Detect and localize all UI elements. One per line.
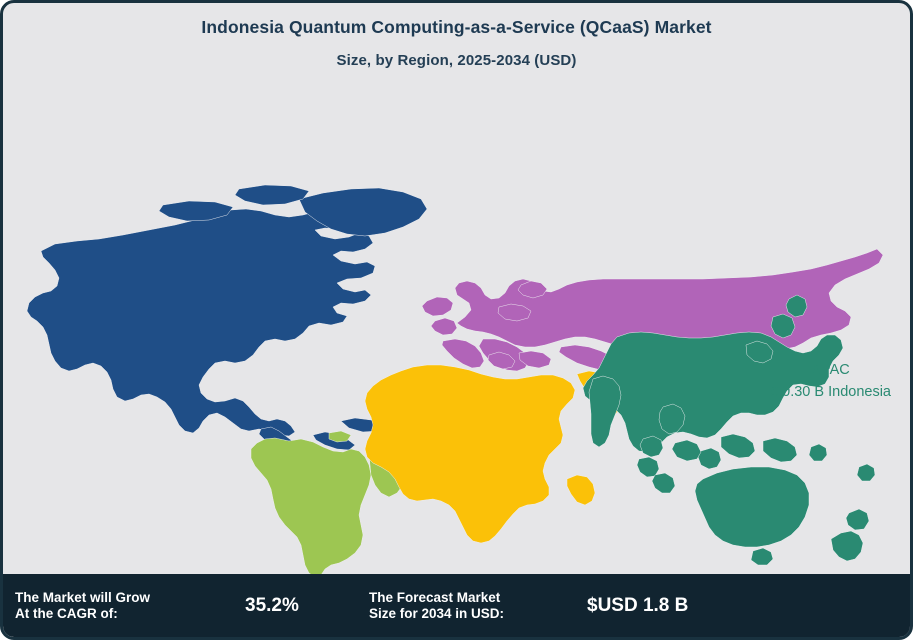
metric-cagr: The Market will Grow At the CAGR of: 35.… bbox=[15, 574, 299, 637]
metric-forecast-value: $USD 1.8 B bbox=[587, 595, 688, 617]
metric-forecast-label: The Forecast Market Size for 2034 in USD… bbox=[369, 590, 539, 621]
metric-cagr-value: 35.2% bbox=[245, 595, 299, 617]
metric-cagr-label: The Market will Grow At the CAGR of: bbox=[15, 590, 215, 621]
region-apac[interactable] bbox=[583, 295, 875, 565]
page-subtitle: Size, by Region, 2025-2034 (USD) bbox=[3, 51, 910, 71]
metrics-footer: The Market will Grow At the CAGR of: 35.… bbox=[3, 574, 913, 637]
chart-header: Indonesia Quantum Computing-as-a-Service… bbox=[3, 3, 910, 71]
world-map-svg bbox=[3, 89, 913, 579]
page-title: Indonesia Quantum Computing-as-a-Service… bbox=[3, 17, 910, 37]
region-north-america[interactable] bbox=[27, 185, 427, 458]
infographic-frame: Indonesia Quantum Computing-as-a-Service… bbox=[0, 0, 913, 640]
metric-forecast: The Forecast Market Size for 2034 in USD… bbox=[369, 574, 688, 637]
world-map: APAC $ 0.30 B Indonesia bbox=[3, 89, 913, 579]
